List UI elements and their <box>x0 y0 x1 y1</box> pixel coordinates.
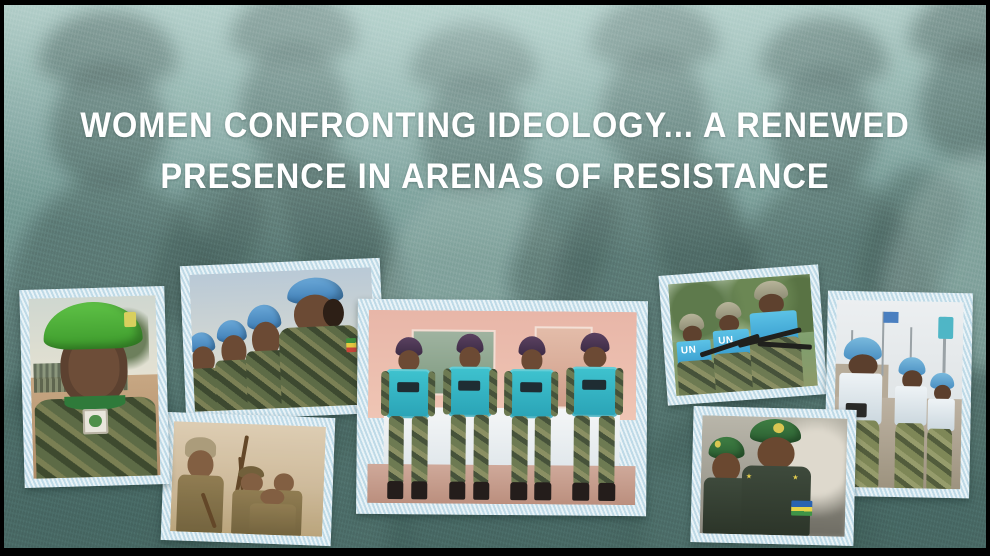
photo-un-patrol[interactable]: UN UN <box>658 264 827 405</box>
photo-green-beret[interactable] <box>19 286 169 488</box>
un-vest-label-1: UN <box>681 344 697 356</box>
letterbox-left <box>0 0 4 556</box>
photo-green-beret-image <box>29 295 161 478</box>
photo-un-blue-berets-image <box>189 267 377 412</box>
letterbox-right <box>986 0 990 556</box>
letterbox-top <box>0 0 990 5</box>
photo-women-squad-image <box>367 310 637 505</box>
photo-un-patrol-image: UN UN <box>668 274 818 396</box>
photo-vintage-fighters[interactable] <box>161 412 336 546</box>
photo-un-blue-berets[interactable] <box>180 258 386 421</box>
photo-green-beret-women-image: ★ ★ <box>700 415 848 537</box>
poster-canvas: WOMEN CONFRONTING IDEOLOGY... A RENEWED … <box>0 0 990 556</box>
letterbox-bottom <box>0 548 990 556</box>
photo-women-squad[interactable] <box>356 299 648 517</box>
photo-vintage-fighters-image <box>170 421 326 536</box>
photo-green-beret-women[interactable]: ★ ★ <box>690 406 856 546</box>
